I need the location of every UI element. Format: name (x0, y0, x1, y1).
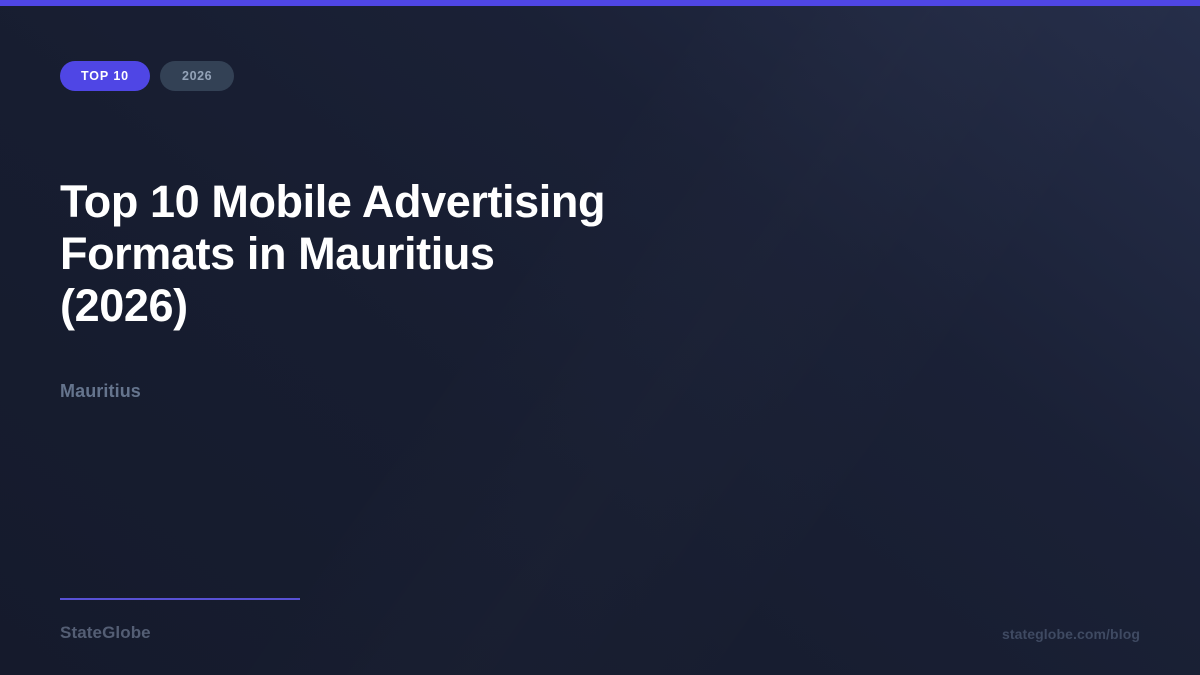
title-line-2: Formats in Mauritius (60, 228, 760, 280)
title-line-1: Top 10 Mobile Advertising (60, 176, 760, 228)
footer-brand: StateGlobe (60, 623, 151, 643)
top-accent-bar (0, 0, 1200, 6)
footer-divider (60, 598, 300, 600)
subtitle-region: Mauritius (60, 381, 141, 402)
year-badge: 2026 (160, 61, 234, 91)
rank-badge: TOP 10 (60, 61, 150, 91)
footer-url: stateglobe.com/blog (1002, 626, 1140, 642)
badge-row: TOP 10 2026 (60, 61, 234, 91)
title-line-3: (2026) (60, 280, 760, 332)
title-slide: TOP 10 2026 Top 10 Mobile Advertising Fo… (0, 0, 1200, 675)
page-title: Top 10 Mobile Advertising Formats in Mau… (60, 176, 760, 332)
slide-content: TOP 10 2026 Top 10 Mobile Advertising Fo… (0, 0, 1200, 675)
